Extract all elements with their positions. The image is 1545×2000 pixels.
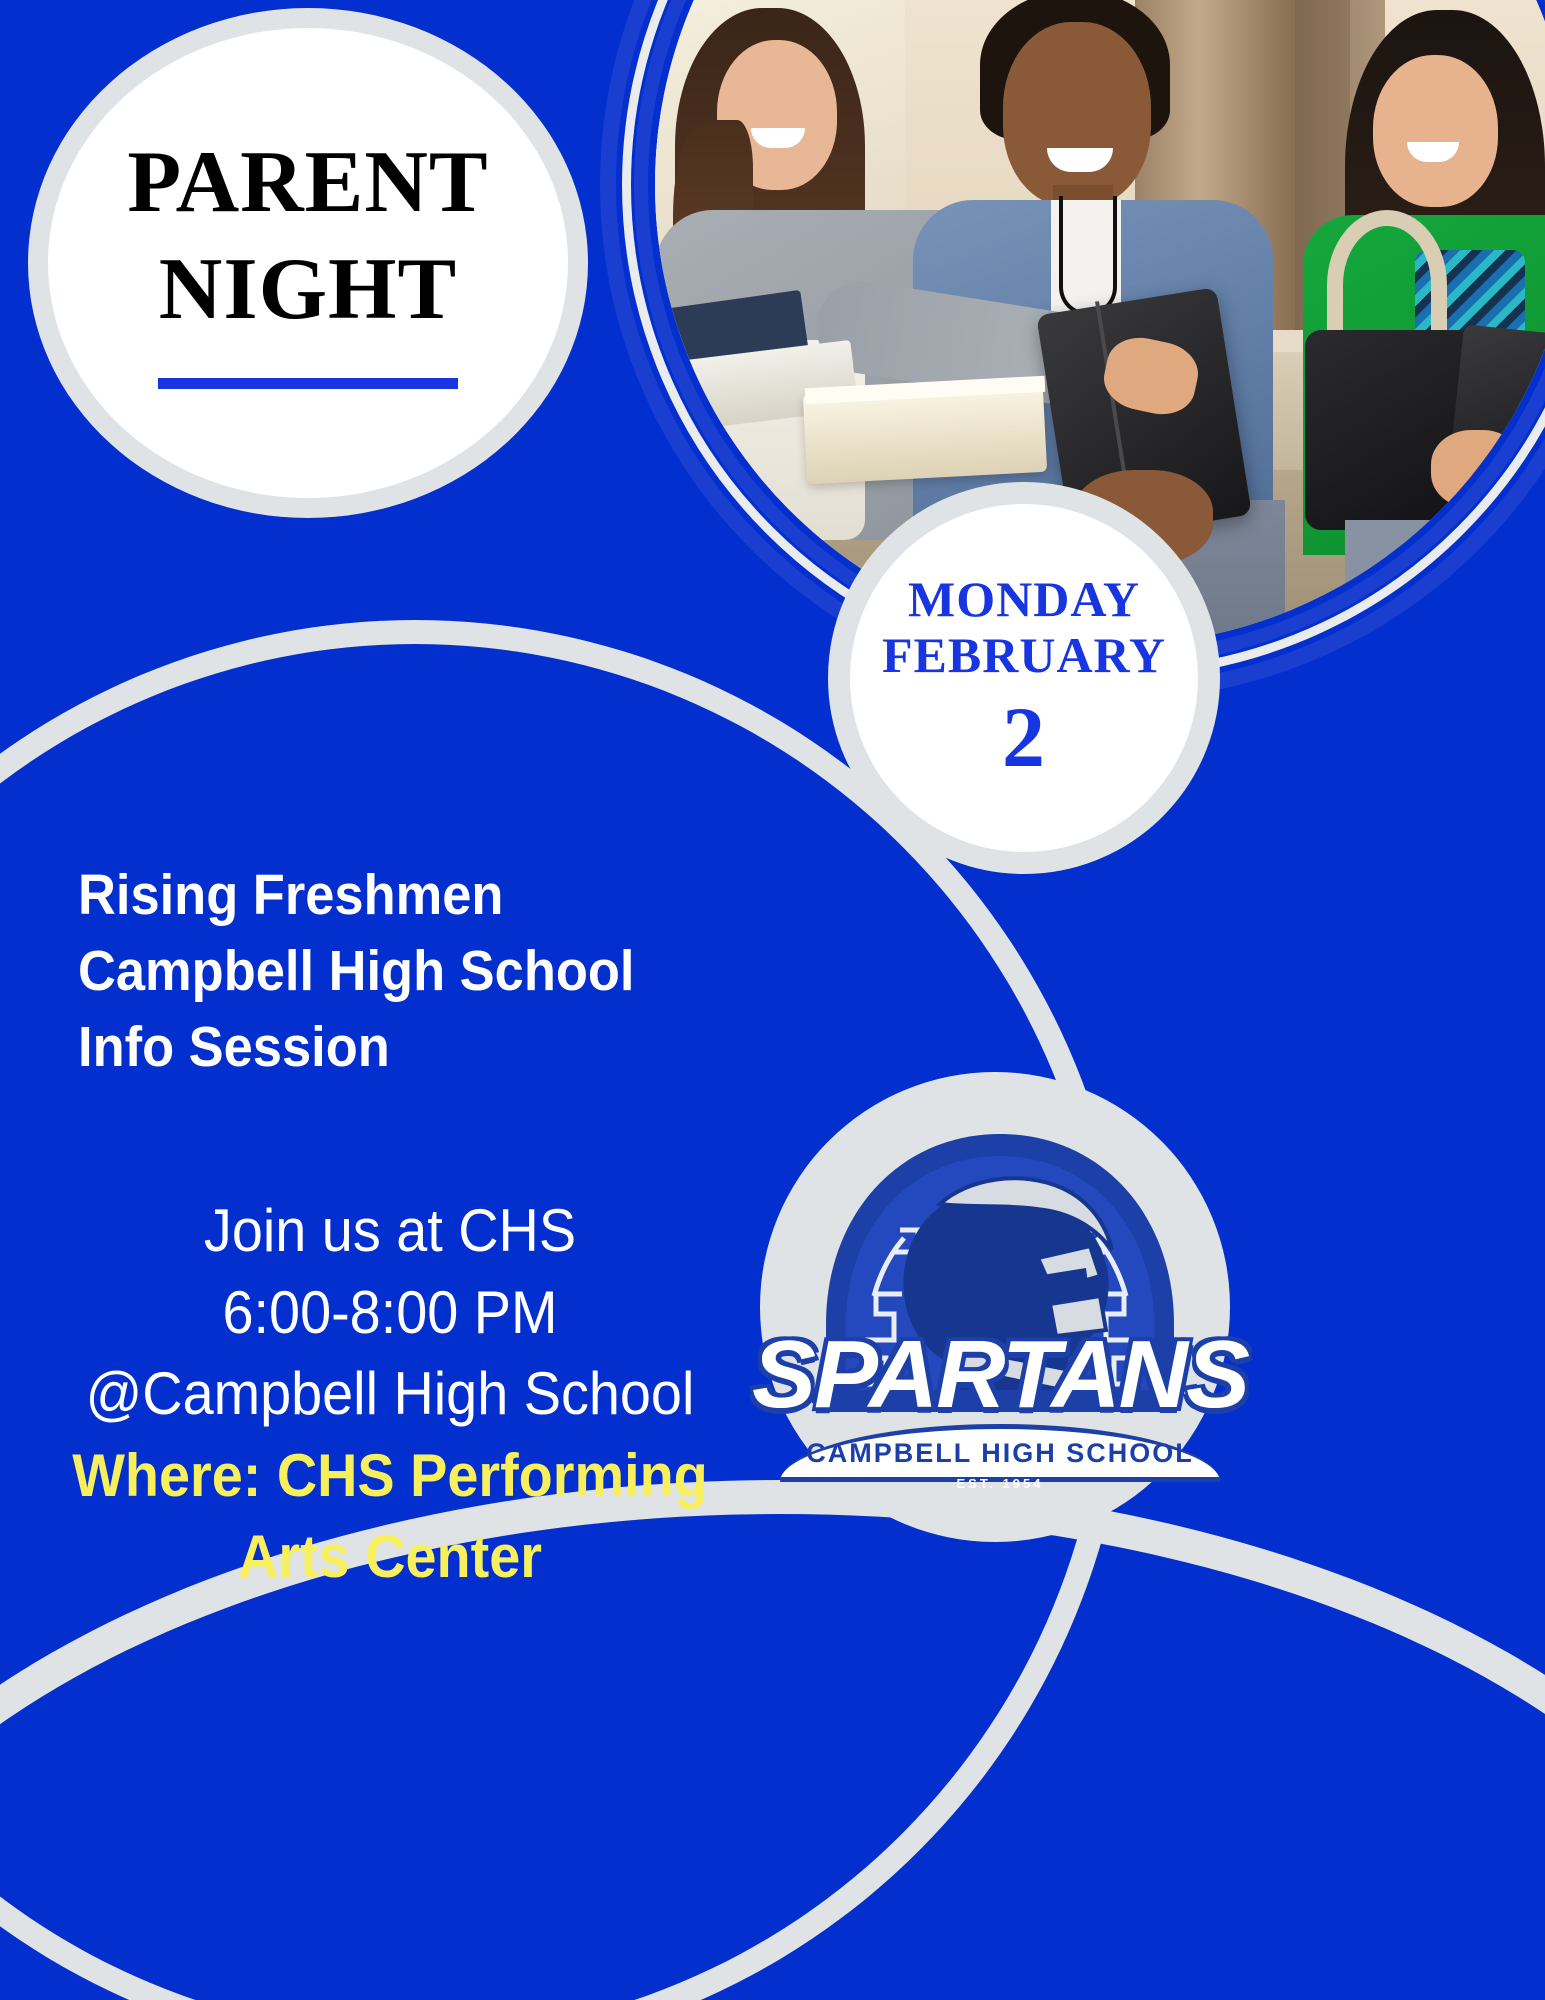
details-block: Join us at CHS 6:00-8:00 PM @Campbell Hi… <box>30 1190 750 1598</box>
logo-banner-text: CAMPBELL HIGH SCHOOL <box>806 1438 1194 1469</box>
date-day-of-week: MONDAY <box>908 571 1140 627</box>
detail-location-line-1: Where: CHS Performing <box>55 1435 725 1517</box>
date-badge: MONDAY FEBRUARY 2 <box>828 482 1220 874</box>
parent-night-flyer: PARENT NIGHT MONDAY FEBRUARY 2 Rising Fr… <box>0 0 1545 2000</box>
date-month: FEBRUARY <box>882 627 1166 683</box>
detail-time: 6:00-8:00 PM <box>55 1272 725 1354</box>
title-underline <box>158 378 458 389</box>
headline-line-1: Rising Freshmen <box>78 858 667 934</box>
photo-student-right-face <box>1373 55 1498 207</box>
page-title-line-1: PARENT <box>127 137 488 229</box>
detail-venue: @Campbell High School <box>55 1353 725 1435</box>
date-day-number: 2 <box>1002 689 1046 785</box>
photo-student-right-jeans <box>1345 520 1545 645</box>
photo-student-center-face <box>1003 22 1151 207</box>
logo-wordmark: SPARTANS <box>730 1320 1270 1430</box>
headline-line-2: Campbell High School <box>78 934 667 1010</box>
headline-line-3: Info Session <box>78 1010 667 1086</box>
headline-block: Rising Freshmen Campbell High School Inf… <box>78 858 718 1085</box>
photo-student-center-necklace <box>1059 196 1117 316</box>
photo-student-right-hand <box>1431 430 1523 508</box>
detail-location-line-2: Arts Center <box>55 1516 725 1598</box>
logo-established-text: EST. 1954 <box>760 1476 1240 1491</box>
title-badge: PARENT NIGHT <box>28 8 588 518</box>
page-title-line-2: NIGHT <box>159 244 457 336</box>
school-logo-badge: SPARTANS CAMPBELL HIGH SCHOOL EST. 1954 <box>760 1072 1230 1542</box>
detail-join-us: Join us at CHS <box>55 1190 725 1272</box>
